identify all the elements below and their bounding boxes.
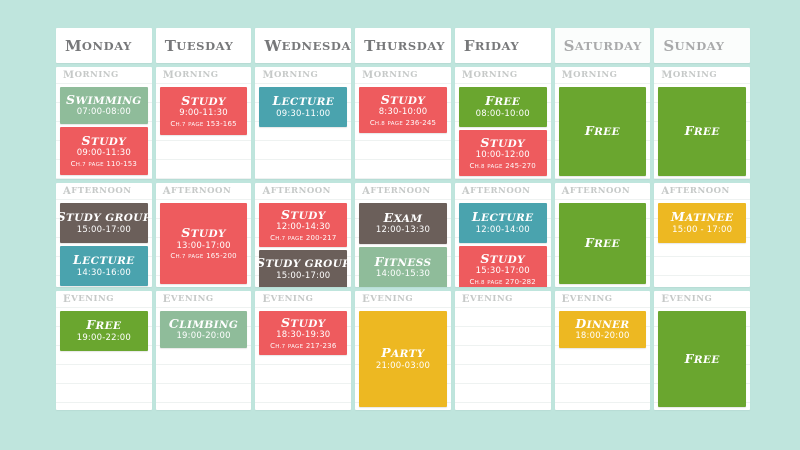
event-card[interactable]: STUDY18:30-19:30CH.7 PAGE 217-236 — [259, 311, 347, 355]
event-time: 9:00-11:30 — [179, 109, 228, 119]
event-detail: CH.7 PAGE 217-236 — [270, 342, 336, 350]
event-time: 09:30-11:00 — [276, 110, 330, 120]
event-list: STUDY18:30-19:30CH.7 PAGE 217-236 — [255, 308, 351, 410]
event-time: 09:00-11:30 — [77, 149, 131, 159]
period-label: AFTERNOON — [455, 183, 551, 200]
event-card[interactable]: SWIMMING07:00-08:00 — [60, 87, 148, 124]
period-label: MORNING — [455, 67, 551, 84]
event-time: 12:00-13:30 — [376, 226, 430, 236]
period-label: AFTERNOON — [56, 183, 152, 200]
day-header-wednesday[interactable]: WEDNESDAY — [255, 28, 351, 63]
weekly-schedule-grid: MONDAYMORNINGSWIMMING07:00-08:00STUDY09:… — [56, 28, 750, 410]
period-label: EVENING — [56, 291, 152, 308]
event-list: STUDY13:00-17:00CH.7 PAGE 165-200 — [156, 200, 252, 287]
period-label: EVENING — [255, 291, 351, 308]
period-afternoon[interactable]: AFTERNOONFREE — [555, 183, 651, 287]
event-card[interactable]: STUDY12:00-14:30CH.7 PAGE 200-217 — [259, 203, 347, 247]
event-title: STUDY — [480, 136, 525, 150]
period-afternoon[interactable]: AFTERNOONLECTURE12:00-14:00STUDY15:30-17… — [455, 183, 551, 287]
period-afternoon[interactable]: AFTERNOONSTUDY GROUP15:00-17:00LECTURE14… — [56, 183, 152, 287]
period-label: MORNING — [355, 67, 451, 84]
event-list: SWIMMING07:00-08:00STUDY09:00-11:30CH.7 … — [56, 84, 152, 179]
period-evening[interactable]: EVENINGFREE19:00-22:00 — [56, 291, 152, 410]
event-list: EXAM12:00-13:30FITNESS14:00-15:30 — [355, 200, 451, 287]
day-column-friday: FRIDAYMORNINGFREE08:00-10:00STUDY10:00-1… — [455, 28, 551, 410]
event-list: FREE — [555, 84, 651, 179]
event-card[interactable]: STUDY13:00-17:00CH.7 PAGE 165-200 — [160, 203, 248, 284]
event-card[interactable]: LECTURE12:00-14:00 — [459, 203, 547, 243]
event-title: EXAM — [384, 211, 423, 225]
day-column-monday: MONDAYMORNINGSWIMMING07:00-08:00STUDY09:… — [56, 28, 152, 410]
event-card[interactable]: LECTURE14:30-16:00 — [60, 246, 148, 286]
event-title: STUDY GROUP — [60, 210, 148, 224]
period-evening[interactable]: EVENING — [455, 291, 551, 410]
event-list: CLIMBING19:00-20:00 — [156, 308, 252, 410]
event-title: FREE — [485, 94, 520, 108]
period-label: AFTERNOON — [555, 183, 651, 200]
event-list: STUDY GROUP15:00-17:00LECTURE14:30-16:00 — [56, 200, 152, 287]
event-title: STUDY — [480, 252, 525, 266]
day-header-saturday[interactable]: SATURDAY — [555, 28, 651, 63]
event-title: FREE — [585, 124, 620, 138]
event-card[interactable]: STUDY15:30-17:00CH.8 PAGE 270-282 — [459, 246, 547, 287]
period-morning[interactable]: MORNINGSWIMMING07:00-08:00STUDY09:00-11:… — [56, 67, 152, 179]
period-afternoon[interactable]: AFTERNOONEXAM12:00-13:30FITNESS14:00-15:… — [355, 183, 451, 287]
day-column-saturday: SATURDAYMORNINGFREEAFTERNOONFREEEVENINGD… — [555, 28, 651, 410]
event-title: PARTY — [381, 346, 424, 360]
event-title: STUDY — [281, 316, 326, 330]
event-detail: CH.7 PAGE 110-153 — [71, 160, 137, 168]
event-time: 12:00-14:30 — [276, 223, 330, 233]
event-time: 13:00-17:00 — [176, 242, 230, 252]
event-card[interactable]: FREE08:00-10:00 — [459, 87, 547, 127]
event-detail: CH.7 PAGE 153-165 — [170, 120, 236, 128]
event-title: STUDY — [381, 93, 426, 107]
event-card[interactable]: STUDY10:00-12:00CH.8 PAGE 245-270 — [459, 130, 547, 176]
event-detail: CH.7 PAGE 200-217 — [270, 234, 336, 242]
event-time: 15:00 - 17:00 — [672, 226, 732, 236]
event-card[interactable]: FREE — [658, 87, 746, 176]
event-time: 14:00-15:30 — [376, 270, 430, 280]
period-label: MORNING — [156, 67, 252, 84]
day-header-sunday[interactable]: SUNDAY — [654, 28, 750, 63]
event-card[interactable]: LECTURE09:30-11:00 — [259, 87, 347, 127]
event-list: FREE — [654, 84, 750, 179]
event-time: 10:00-12:00 — [476, 151, 530, 161]
day-header-thursday[interactable]: THURSDAY — [355, 28, 451, 63]
day-header-friday[interactable]: FRIDAY — [455, 28, 551, 63]
event-title: CLIMBING — [169, 317, 238, 331]
event-card[interactable]: STUDY GROUP15:00-17:00 — [60, 203, 148, 243]
event-title: LECTURE — [73, 253, 135, 267]
event-card[interactable]: FREE19:00-22:00 — [60, 311, 148, 351]
event-detail: CH.7 PAGE 165-200 — [170, 252, 236, 260]
event-time: 07:00-08:00 — [77, 108, 131, 118]
period-evening[interactable]: EVENINGPARTY21:00-03:00 — [355, 291, 451, 410]
period-evening[interactable]: EVENINGDINNER18:00-20:00 — [555, 291, 651, 410]
period-morning[interactable]: MORNINGFREE08:00-10:00STUDY10:00-12:00CH… — [455, 67, 551, 179]
event-card[interactable]: EXAM12:00-13:30 — [359, 203, 447, 244]
event-title: FREE — [685, 352, 720, 366]
day-column-thursday: THURSDAYMORNINGSTUDY8:30-10:00CH.8 PAGE … — [355, 28, 451, 410]
day-header-tuesday[interactable]: TUESDAY — [156, 28, 252, 63]
event-time: 15:00-17:00 — [77, 226, 131, 236]
period-label: MORNING — [255, 67, 351, 84]
event-list: DINNER18:00-20:00 — [555, 308, 651, 410]
day-column-wednesday: WEDNESDAYMORNINGLECTURE09:30-11:00AFTERN… — [255, 28, 351, 410]
period-label: EVENING — [455, 291, 551, 308]
event-card[interactable]: FITNESS14:00-15:30 — [359, 247, 447, 287]
event-title: FITNESS — [375, 255, 432, 269]
event-card[interactable]: PARTY21:00-03:00 — [359, 311, 447, 407]
event-time: 18:30-19:30 — [276, 331, 330, 341]
event-time: 8:30-10:00 — [379, 108, 428, 118]
event-list: FREE19:00-22:00 — [56, 308, 152, 410]
period-afternoon[interactable]: AFTERNOONSTUDY12:00-14:30CH.7 PAGE 200-2… — [255, 183, 351, 287]
event-card[interactable]: FREE — [658, 311, 746, 407]
event-card[interactable]: FREE — [559, 87, 647, 176]
period-label: MORNING — [56, 67, 152, 84]
event-list: STUDY9:00-11:30CH.7 PAGE 153-165 — [156, 84, 252, 179]
event-title: MATINEE — [671, 210, 734, 224]
period-morning[interactable]: MORNINGSTUDY9:00-11:30CH.7 PAGE 153-165 — [156, 67, 252, 179]
event-list: LECTURE12:00-14:00STUDY15:30-17:00CH.8 P… — [455, 200, 551, 287]
event-time: 08:00-10:00 — [476, 110, 530, 120]
period-label: MORNING — [654, 67, 750, 84]
event-list: FREE — [654, 308, 750, 410]
event-detail: CH.8 PAGE 236-245 — [370, 119, 436, 127]
event-list: STUDY12:00-14:30CH.7 PAGE 200-217STUDY G… — [255, 200, 351, 287]
event-card[interactable]: DINNER18:00-20:00 — [559, 311, 647, 348]
event-title: FREE — [585, 236, 620, 250]
event-list: STUDY8:30-10:00CH.8 PAGE 236-245 — [355, 84, 451, 179]
event-title: STUDY — [181, 94, 226, 108]
event-title: LECTURE — [272, 94, 334, 108]
period-morning[interactable]: MORNINGSTUDY8:30-10:00CH.8 PAGE 236-245 — [355, 67, 451, 179]
event-title: STUDY — [82, 134, 127, 148]
period-label: EVENING — [654, 291, 750, 308]
period-label: EVENING — [156, 291, 252, 308]
period-label: MORNING — [555, 67, 651, 84]
period-afternoon[interactable]: AFTERNOONSTUDY13:00-17:00CH.7 PAGE 165-2… — [156, 183, 252, 287]
day-column-sunday: SUNDAYMORNINGFREEAFTERNOONMATINEE15:00 -… — [654, 28, 750, 410]
event-detail: CH.8 PAGE 270-282 — [470, 278, 536, 286]
event-time: 19:00-22:00 — [77, 334, 131, 344]
event-list: FREE — [555, 200, 651, 287]
period-evening[interactable]: EVENINGCLIMBING19:00-20:00 — [156, 291, 252, 410]
event-time: 14:30-16:00 — [77, 269, 131, 279]
period-evening[interactable]: EVENINGSTUDY18:30-19:30CH.7 PAGE 217-236 — [255, 291, 351, 410]
event-time: 15:00-17:00 — [276, 272, 330, 282]
event-time: 18:00-20:00 — [575, 332, 629, 342]
event-title: STUDY — [281, 208, 326, 222]
event-list — [455, 308, 551, 410]
event-list: FREE08:00-10:00STUDY10:00-12:00CH.8 PAGE… — [455, 84, 551, 179]
event-time: 21:00-03:00 — [376, 362, 430, 372]
period-label: AFTERNOON — [355, 183, 451, 200]
period-label: AFTERNOON — [654, 183, 750, 200]
event-card[interactable]: FREE — [559, 203, 647, 284]
event-card[interactable]: STUDY GROUP15:00-17:00 — [259, 250, 347, 287]
day-header-monday[interactable]: MONDAY — [56, 28, 152, 63]
event-detail: CH.8 PAGE 245-270 — [470, 162, 536, 170]
event-title: STUDY GROUP — [259, 256, 347, 270]
event-card[interactable]: STUDY09:00-11:30CH.7 PAGE 110-153 — [60, 127, 148, 175]
event-card[interactable]: STUDY8:30-10:00CH.8 PAGE 236-245 — [359, 87, 447, 133]
event-list: LECTURE09:30-11:00 — [255, 84, 351, 179]
event-time: 19:00-20:00 — [176, 332, 230, 342]
event-title: FREE — [685, 124, 720, 138]
period-morning[interactable]: MORNINGLECTURE09:30-11:00 — [255, 67, 351, 179]
event-time: 15:30-17:00 — [476, 267, 530, 277]
event-card[interactable]: CLIMBING19:00-20:00 — [160, 311, 248, 348]
event-card[interactable]: STUDY9:00-11:30CH.7 PAGE 153-165 — [160, 87, 248, 135]
event-card[interactable]: MATINEE15:00 - 17:00 — [658, 203, 746, 243]
event-list: MATINEE15:00 - 17:00 — [654, 200, 750, 287]
period-afternoon[interactable]: AFTERNOONMATINEE15:00 - 17:00 — [654, 183, 750, 287]
period-label: EVENING — [355, 291, 451, 308]
event-title: SWIMMING — [66, 93, 142, 107]
event-time: 12:00-14:00 — [476, 226, 530, 236]
period-label: AFTERNOON — [156, 183, 252, 200]
event-title: STUDY — [181, 226, 226, 240]
event-list: PARTY21:00-03:00 — [355, 308, 451, 410]
period-morning[interactable]: MORNINGFREE — [654, 67, 750, 179]
event-title: FREE — [86, 318, 121, 332]
day-column-tuesday: TUESDAYMORNINGSTUDY9:00-11:30CH.7 PAGE 1… — [156, 28, 252, 410]
event-title: DINNER — [575, 317, 629, 331]
period-evening[interactable]: EVENINGFREE — [654, 291, 750, 410]
event-title: LECTURE — [472, 210, 534, 224]
period-label: AFTERNOON — [255, 183, 351, 200]
period-morning[interactable]: MORNINGFREE — [555, 67, 651, 179]
period-label: EVENING — [555, 291, 651, 308]
